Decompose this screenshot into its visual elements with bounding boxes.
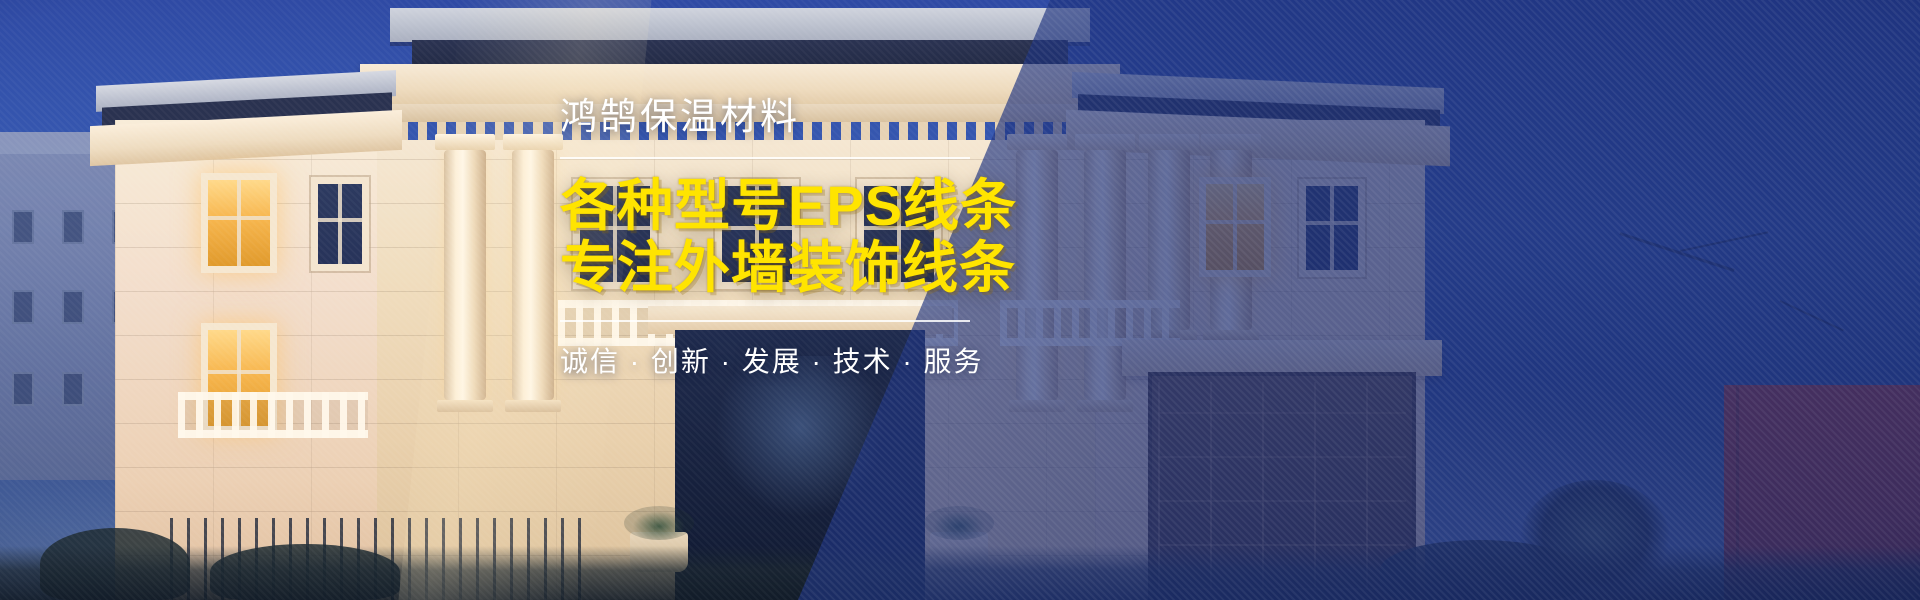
column [512,150,554,400]
brand-name: 鸿鹄保温材料 [560,96,1020,139]
balustrade [178,392,368,438]
window [318,184,362,264]
divider-bottom [560,320,970,322]
headline-line-2: 专注外墙装饰线条 [560,237,1020,300]
promo-banner: 鸿鹄保温材料 各种型号EPS线条 专注外墙装饰线条 诚信 · 创新 · 发展 ·… [0,0,1920,600]
distant-window [12,290,34,324]
banner-copy: 鸿鹄保温材料 各种型号EPS线条 专注外墙装饰线条 诚信 · 创新 · 发展 ·… [560,96,1020,380]
distant-window [12,210,34,244]
lit-window [208,180,270,266]
divider-top [560,157,970,159]
tagline: 诚信 · 创新 · 发展 · 技术 · 服务 [560,340,1020,380]
distant-window [12,372,34,406]
roof-shadow-band [412,40,1068,66]
column [444,150,486,400]
roof-parapet [390,8,1090,42]
headline-line-1: 各种型号EPS线条 [560,175,1020,238]
